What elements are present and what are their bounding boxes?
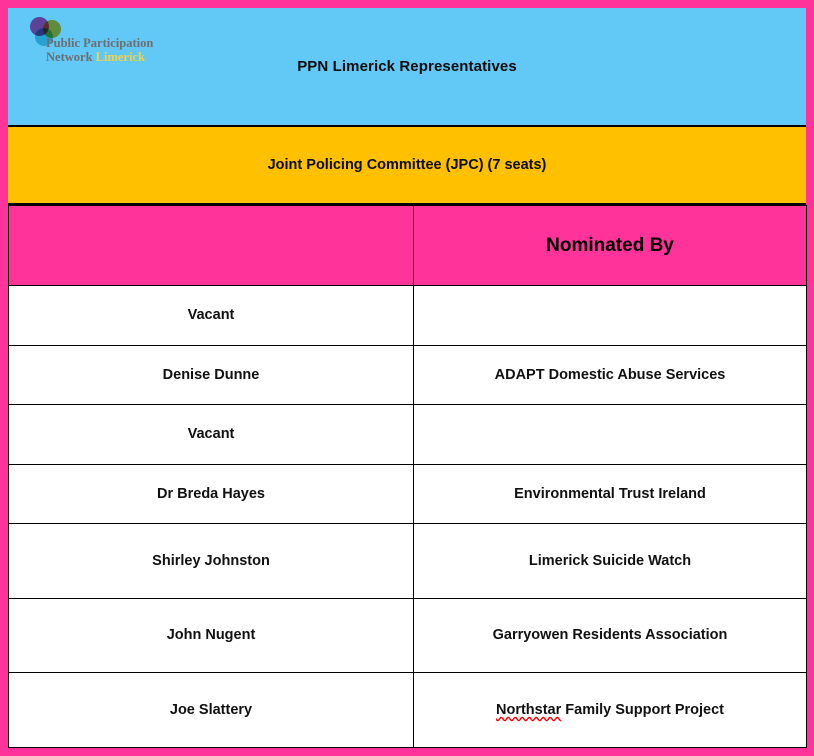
cell-nominated-by: [414, 286, 807, 346]
cell-representative-name: Dr Breda Hayes: [9, 464, 414, 524]
cell-representative-name: John Nugent: [9, 598, 414, 673]
cell-representative-name: Denise Dunne: [9, 345, 414, 405]
cell-nominated-by: Garryowen Residents Association: [414, 598, 807, 673]
cell-representative-name: Joe Slattery: [9, 673, 414, 748]
cell-representative-name: Vacant: [9, 405, 414, 465]
cell-representative-name: Vacant: [9, 286, 414, 346]
table-header: Nominated By: [9, 206, 807, 286]
cell-nominated-by: Northstar Family Support Project: [414, 673, 807, 748]
page-title: PPN Limerick Representatives: [297, 58, 517, 75]
logo-line-2-network: Network: [46, 50, 96, 64]
column-header-nominated-by: Nominated By: [414, 206, 807, 286]
cell-representative-name: Shirley Johnston: [9, 524, 414, 599]
table-row: John Nugent Garryowen Residents Associat…: [9, 598, 807, 673]
table-header-row: Nominated By: [9, 206, 807, 286]
cell-nominated-by: [414, 405, 807, 465]
logo-line-2-limerick: Limerick: [96, 50, 145, 64]
cell-nominated-by: Limerick Suicide Watch: [414, 524, 807, 599]
cell-nominated-by: Environmental Trust Ireland: [414, 464, 807, 524]
logo-line-1: Public Participation: [46, 37, 153, 51]
table-row: Vacant: [9, 286, 807, 346]
table-row: Vacant: [9, 405, 807, 465]
logo-wordmark: Public Participation Network Limerick: [46, 37, 153, 64]
representatives-table: Nominated By Vacant Denise Dunne ADAPT D…: [8, 205, 807, 748]
nominated-by-rest: Family Support Project: [561, 702, 724, 718]
representatives-page: Public Participation Network Limerick PP…: [0, 0, 814, 756]
column-header-name: [9, 206, 414, 286]
logo-line-2: Network Limerick: [46, 51, 153, 65]
table-row: Shirley Johnston Limerick Suicide Watch: [9, 524, 807, 599]
table-row: Joe Slattery Northstar Family Support Pr…: [9, 673, 807, 748]
page-banner: Public Participation Network Limerick PP…: [8, 8, 806, 127]
cell-nominated-by: ADAPT Domestic Abuse Services: [414, 345, 807, 405]
table-row: Denise Dunne ADAPT Domestic Abuse Servic…: [9, 345, 807, 405]
table-body: Vacant Denise Dunne ADAPT Domestic Abuse…: [9, 286, 807, 748]
ppn-limerick-logo: Public Participation Network Limerick: [20, 16, 190, 70]
committee-header: Joint Policing Committee (JPC) (7 seats): [8, 127, 806, 205]
table-row: Dr Breda Hayes Environmental Trust Irela…: [9, 464, 807, 524]
spellcheck-misspelled-word: Northstar: [496, 702, 561, 718]
committee-title: Joint Policing Committee (JPC) (7 seats): [268, 157, 547, 173]
